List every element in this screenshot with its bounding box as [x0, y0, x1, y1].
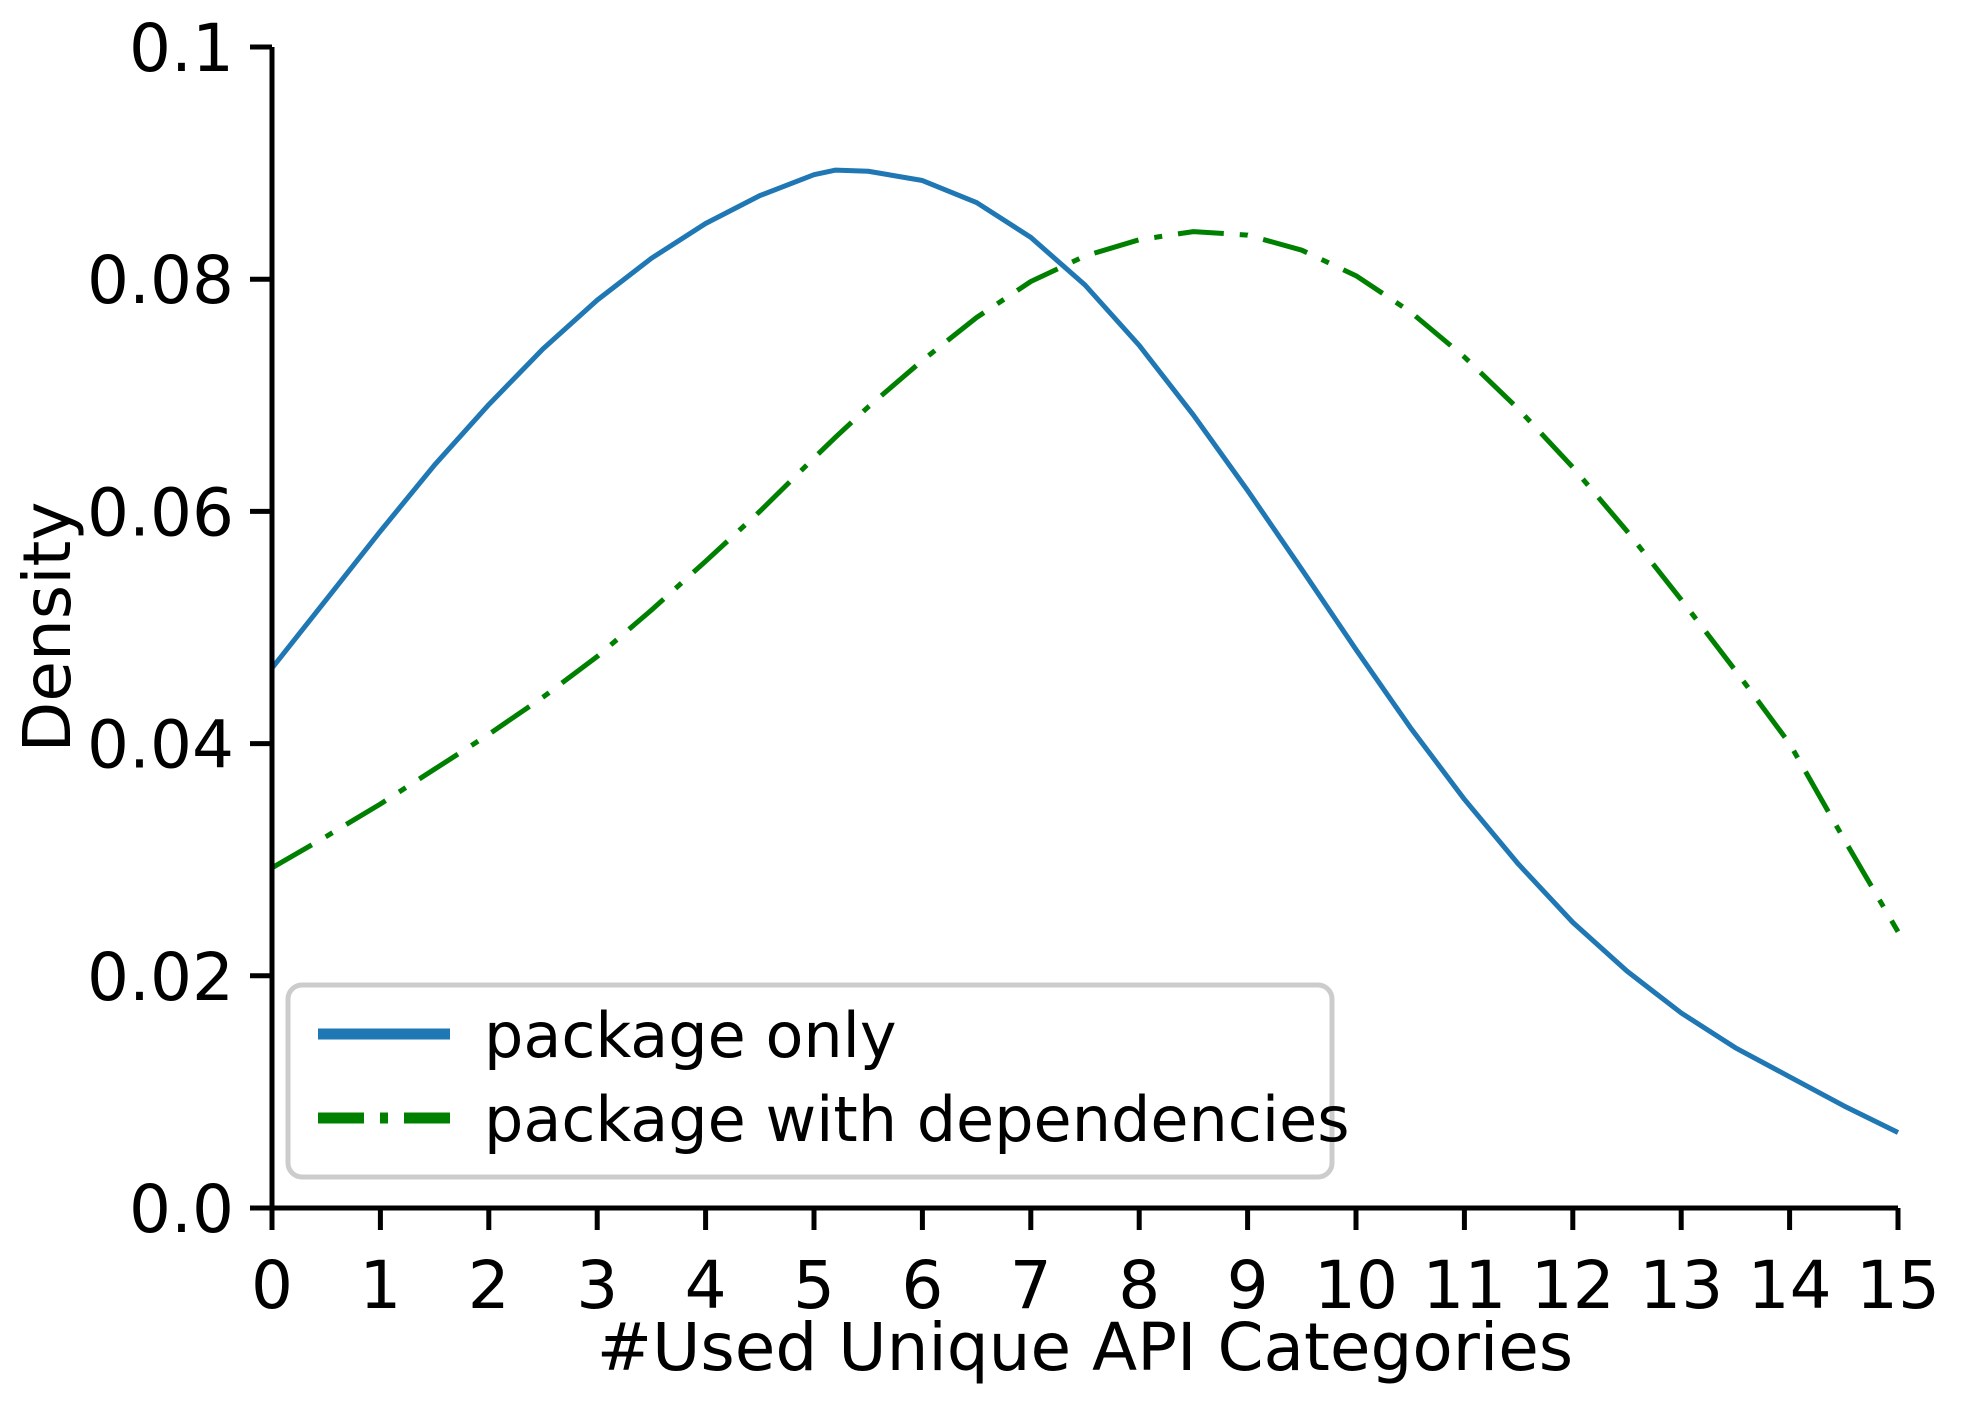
x-tick-label: 14	[1748, 1247, 1832, 1324]
x-tick-label: 2	[468, 1247, 510, 1324]
x-tick-label: 1	[359, 1247, 401, 1324]
x-tick-label: 15	[1856, 1247, 1940, 1324]
y-tick-label: 0.04	[87, 707, 234, 784]
x-axis-title: #Used Unique API Categories	[597, 1309, 1573, 1386]
legend-label-package-only: package only	[484, 999, 897, 1072]
x-tick-label: 0	[251, 1247, 293, 1324]
legend-label-package-with-dependencies: package with dependencies	[484, 1083, 1350, 1156]
chart-legend[interactable]: package only package with dependencies	[288, 985, 1350, 1177]
y-tick-label: 0.0	[129, 1171, 234, 1248]
y-tick-label: 0.06	[87, 474, 234, 551]
y-axis-tick-labels: 0.00.020.040.060.080.1	[87, 10, 234, 1248]
y-axis-title: Density	[9, 502, 86, 753]
y-axis-ticks	[250, 47, 272, 1208]
density-line-chart: 0123456789101112131415 0.00.020.040.060.…	[0, 0, 1966, 1406]
y-tick-label: 0.1	[129, 10, 234, 87]
x-tick-label: 13	[1639, 1247, 1723, 1324]
figure-container: 0123456789101112131415 0.00.020.040.060.…	[0, 0, 1966, 1406]
x-axis-ticks	[272, 1208, 1898, 1230]
y-tick-label: 0.02	[87, 939, 234, 1016]
y-tick-label: 0.08	[87, 242, 234, 319]
